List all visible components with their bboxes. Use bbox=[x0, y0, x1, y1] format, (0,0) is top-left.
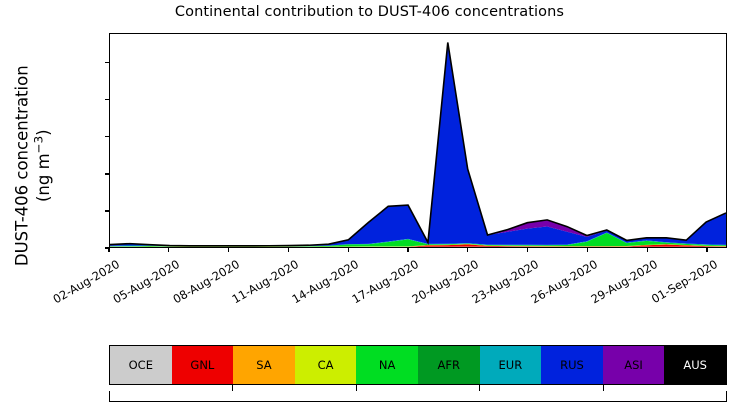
legend-swatch-eur[interactable]: EUR bbox=[480, 346, 542, 384]
y-axis-label-line1: DUST-406 concentration bbox=[12, 65, 31, 266]
chart-figure: Continental contribution to DUST-406 con… bbox=[0, 0, 739, 402]
x-tick-mark bbox=[228, 248, 229, 252]
legend-swatch-sa[interactable]: SA bbox=[233, 346, 295, 384]
x-tick-mark bbox=[467, 248, 468, 252]
legend-swatch-ca[interactable]: CA bbox=[295, 346, 357, 384]
chart-title: Continental contribution to DUST-406 con… bbox=[0, 4, 739, 20]
x-tick-mark bbox=[706, 248, 707, 252]
legend-swatch-afr[interactable]: AFR bbox=[418, 346, 480, 384]
y-axis-label-line2: (ng m−3) bbox=[32, 41, 54, 291]
legend-swatch-oce[interactable]: OCE bbox=[110, 346, 172, 384]
y-axis-label: DUST-406 concentration (ng m−3) bbox=[12, 41, 53, 291]
stacked-area-series bbox=[110, 34, 726, 247]
x-tick-mark bbox=[407, 248, 408, 252]
x-tick-mark bbox=[527, 248, 528, 252]
x-tick-mark bbox=[168, 248, 169, 252]
plot-area bbox=[109, 33, 727, 248]
x-tick-mark bbox=[647, 248, 648, 252]
x-tick-mark bbox=[348, 248, 349, 252]
continent-legend-colorbar: OCEGNLSACANAAFREURRUSASIAUS bbox=[109, 345, 727, 385]
legend-swatch-asi[interactable]: ASI bbox=[603, 346, 665, 384]
colorbar-lower-frame bbox=[109, 391, 727, 402]
x-tick-mark bbox=[108, 248, 109, 252]
x-tick-mark bbox=[288, 248, 289, 252]
legend-swatch-gnl[interactable]: GNL bbox=[172, 346, 234, 384]
legend-swatch-aus[interactable]: AUS bbox=[664, 346, 726, 384]
legend-swatch-rus[interactable]: RUS bbox=[541, 346, 603, 384]
x-tick-mark bbox=[587, 248, 588, 252]
legend-swatch-na[interactable]: NA bbox=[356, 346, 418, 384]
